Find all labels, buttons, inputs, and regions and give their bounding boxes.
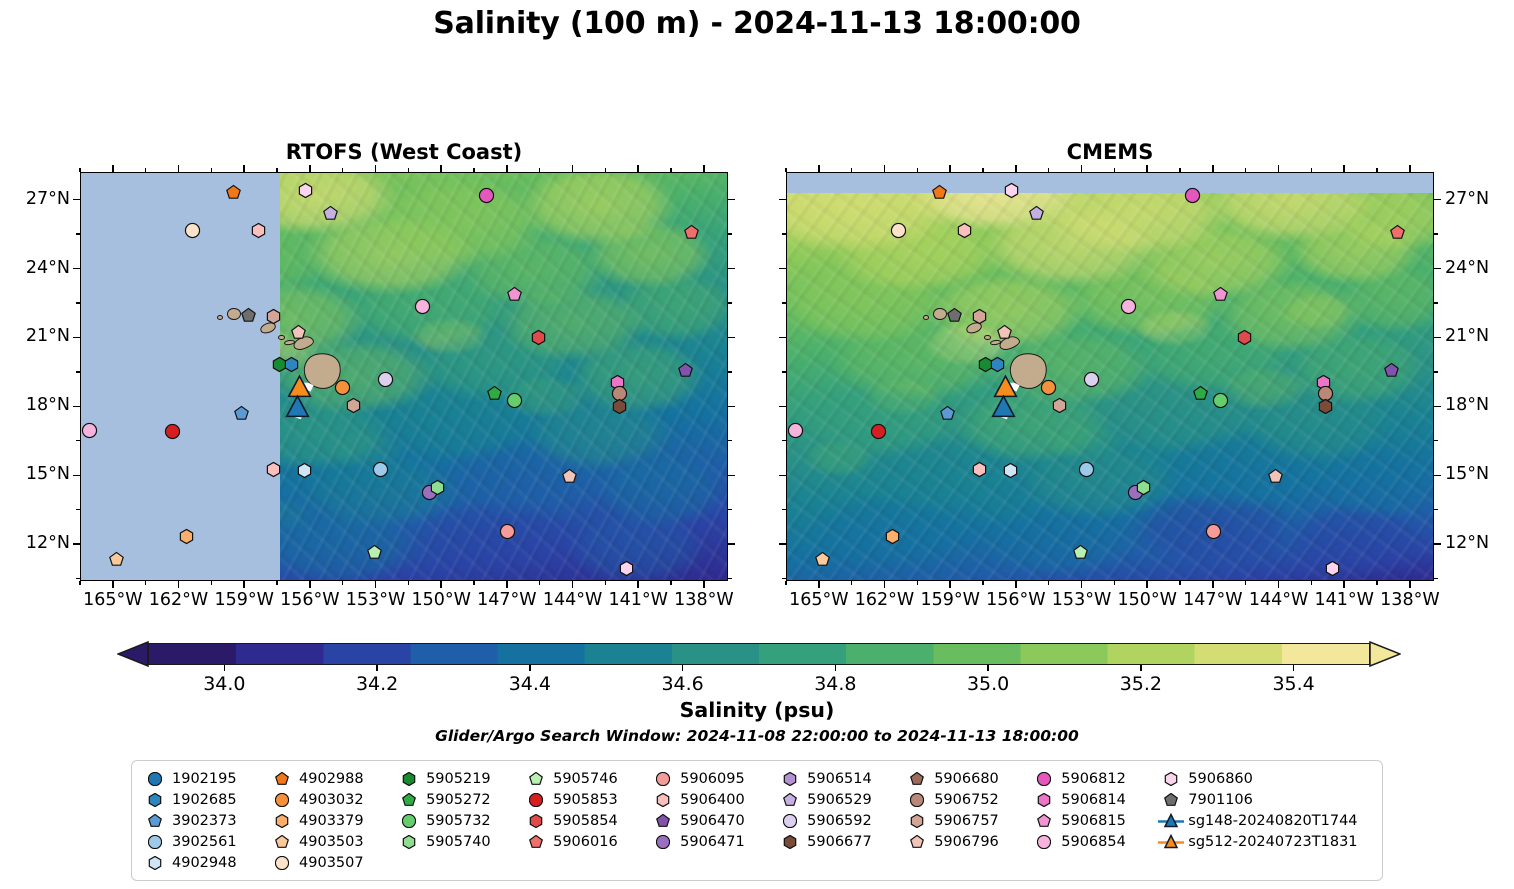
legend-label: 4902988 [299,771,364,787]
argo-float-marker[interactable] [684,225,699,240]
colorbar-extend-min [118,642,148,666]
x-axis-tick-top [884,165,886,172]
x-axis-minor-tick [276,581,277,585]
float-marker-icon [777,789,803,810]
y-axis-tick [779,268,786,270]
argo-float-marker[interactable] [487,386,502,401]
legend-item[interactable]: 4903503 [269,831,378,852]
argo-float-marker[interactable] [997,325,1012,340]
x-axis-tick [949,581,951,588]
legend-item[interactable]: 5905746 [523,768,632,789]
argo-float-marker[interactable] [367,545,382,560]
argo-float-marker[interactable] [109,552,124,567]
map-panel-rtofs[interactable] [80,172,728,581]
argo-float-marker[interactable] [251,223,266,238]
legend-item[interactable]: 5906757 [904,810,1013,831]
x-axis-minor-tick-top [1245,168,1246,172]
y-axis-minor-tick-right [728,371,732,372]
y-axis-tick-label: 27°N [1445,189,1514,209]
legend-box: 1902195490298859052195905746590609559065… [131,760,1383,881]
argo-float-marker[interactable] [1185,188,1200,203]
legend-item[interactable]: 4902948 [142,852,251,873]
argo-float-marker[interactable] [226,185,241,200]
float-marker-icon [142,768,168,789]
float-marker-icon [523,831,549,852]
y-axis-tick-right [728,475,735,477]
x-axis-minor-tick-top [1048,168,1049,172]
panel-title-rtofs: RTOFS (West Coast) [80,140,728,164]
legend-label: 5905854 [553,813,618,829]
argo-float-marker[interactable] [1390,225,1405,240]
argo-float-marker[interactable] [234,406,249,421]
y-axis-tick [73,406,80,408]
float-marker-icon [142,789,168,810]
argo-float-marker[interactable] [165,424,180,439]
legend-empty-cell [396,852,505,873]
y-axis-minor-tick-right [1434,440,1438,441]
x-axis-minor-tick [1048,581,1049,585]
argo-float-marker[interactable] [1004,183,1019,198]
y-axis-tick-label: 15°N [1445,464,1514,484]
argo-float-marker[interactable] [507,287,522,302]
argo-float-marker[interactable] [266,462,281,477]
float-marker-icon [650,810,676,831]
argo-float-marker[interactable] [298,183,313,198]
argo-float-marker[interactable] [1041,380,1056,395]
argo-float-marker[interactable] [284,357,299,372]
argo-float-marker[interactable] [940,406,955,421]
float-marker-icon [1158,789,1184,810]
legend-label: 4903507 [299,855,364,871]
colorbar-tick-label: 35.4 [1249,673,1339,695]
x-axis-tick-top [243,165,245,172]
x-axis-minor-tick-top [79,168,80,172]
search-window-text: Glider/Argo Search Window: 2024-11-08 22… [0,727,1514,745]
float-marker-icon [650,789,676,810]
y-axis-minor-tick-right [1434,509,1438,510]
x-axis-minor-tick-top [342,168,343,172]
float-marker-icon [904,768,930,789]
float-marker-icon [269,768,295,789]
x-axis-minor-tick-top [1114,168,1115,172]
x-axis-tick [375,581,377,588]
legend-item[interactable]: 4903379 [269,810,378,831]
colorbar-tick-label: 35.0 [943,673,1033,695]
y-axis-tick [73,337,80,339]
x-axis-tick-top [637,165,639,172]
x-axis-tick-top [949,165,951,172]
y-axis-tick-right [1434,406,1441,408]
legend-label: 4903032 [299,792,364,808]
argo-float-marker[interactable] [297,463,312,478]
float-marker-icon [396,810,422,831]
argo-float-marker[interactable] [415,299,430,314]
x-axis-tick-top [1146,165,1148,172]
legend-item[interactable]: 5906752 [904,789,1013,810]
legend-label: 5906470 [680,813,745,829]
y-axis-minor-tick-right [728,440,732,441]
x-axis-tick-top [1343,165,1345,172]
y-axis-tick [73,475,80,477]
argo-float-marker[interactable] [932,185,947,200]
argo-float-marker[interactable] [957,223,972,238]
legend-label: 5906514 [807,771,872,787]
legend-label: 5906471 [680,834,745,850]
x-axis-minor-tick-top [982,168,983,172]
x-axis-minor-tick-top [1311,168,1312,172]
argo-float-marker[interactable] [1193,386,1208,401]
y-axis-tick-right [728,199,735,201]
legend-item[interactable]: 5905740 [396,831,505,852]
legend-item[interactable]: 5906860 [1158,768,1372,789]
y-axis-minor-tick-right [1434,578,1438,579]
x-axis-tick [1146,581,1148,588]
x-axis-minor-tick [408,581,409,585]
argo-float-marker[interactable] [1318,399,1333,414]
legend-empty-cell [904,852,1013,873]
legend-label: 5906854 [1061,834,1126,850]
argo-float-marker[interactable] [1029,206,1044,221]
argo-float-marker[interactable] [947,308,962,323]
colorbar-tick [1293,665,1294,671]
legend-item[interactable]: 5905732 [396,810,505,831]
legend-label: 5905740 [426,834,491,850]
argo-float-marker[interactable] [1084,372,1099,387]
x-axis-tick-top [1015,165,1017,172]
float-marker-icon [650,831,676,852]
x-axis-minor-tick [211,581,212,585]
float-marker-icon [396,831,422,852]
legend-label: 5906814 [1061,792,1126,808]
float-marker-icon [142,810,168,831]
colorbar-tick-label: 34.0 [179,673,269,695]
argo-float-marker[interactable] [1136,480,1151,495]
y-axis-tick-label: 24°N [1445,258,1514,278]
float-marker-icon [523,810,549,831]
legend-item[interactable]: 7901106 [1158,789,1372,810]
x-axis-minor-tick [79,581,80,585]
argo-float-marker[interactable] [1213,287,1228,302]
y-axis-minor-tick-right [728,233,732,234]
legend-item[interactable]: 5906812 [1031,768,1140,789]
legend-item[interactable]: 4902988 [269,768,378,789]
x-axis-tick [178,581,180,588]
legend-label: 5905853 [553,792,618,808]
legend-label: 5905272 [426,792,491,808]
y-axis-tick-right [1434,337,1441,339]
panel-title-cmems: CMEMS [786,140,1434,164]
legend-label: 5906680 [934,771,999,787]
x-axis-minor-tick-top [473,168,474,172]
argo-float-marker[interactable] [815,552,830,567]
y-axis-tick-right [1434,543,1441,545]
argo-float-marker[interactable] [185,223,200,238]
argo-float-marker[interactable] [378,372,393,387]
colorbar-tick [987,665,988,671]
x-axis-minor-tick [605,581,606,585]
argo-float-marker[interactable] [990,357,1005,372]
legend-item[interactable]: 4903032 [269,789,378,810]
legend-item[interactable]: 5906514 [777,768,886,789]
argo-float-marker[interactable] [1268,469,1283,484]
legend-label: 5906677 [807,834,872,850]
argo-float-marker[interactable] [1237,330,1252,345]
argo-float-marker[interactable] [871,424,886,439]
argo-float-marker[interactable] [346,398,361,413]
legend-item[interactable]: 5906854 [1031,831,1140,852]
legend-item[interactable]: 1902195 [142,768,251,789]
argo-float-marker[interactable] [972,309,987,324]
argo-float-marker[interactable] [82,423,97,438]
legend-label: 4902948 [172,855,237,871]
legend-item[interactable]: 5906814 [1031,789,1140,810]
x-axis-tick [243,581,245,588]
legend-empty-cell [650,852,759,873]
x-axis-tick-top [1212,165,1214,172]
legend-label: 5906095 [680,771,745,787]
x-axis-minor-tick-top [851,168,852,172]
argo-float-marker[interactable] [179,529,194,544]
argo-float-marker[interactable] [266,309,281,324]
colorbar-gradient [148,643,1370,665]
glider-marker[interactable] [286,396,309,419]
y-axis-minor-tick [76,233,80,234]
y-axis-minor-tick [76,578,80,579]
x-axis-tick-top [178,165,180,172]
y-axis-tick [779,475,786,477]
legend-item[interactable]: 1902685 [142,789,251,810]
legend-label: 1902685 [172,792,237,808]
x-axis-tick-top [818,165,820,172]
float-marker-icon [777,810,803,831]
x-axis-minor-tick [342,581,343,585]
argo-float-marker[interactable] [507,393,522,408]
glider-legend-icon [1158,831,1184,852]
legend-label: 5905746 [553,771,618,787]
legend-label: 5906592 [807,813,872,829]
legend-label: 5906752 [934,792,999,808]
argo-float-marker[interactable] [612,399,627,414]
float-marker-icon [396,768,422,789]
legend-label: 5906812 [1061,771,1126,787]
argo-float-marker[interactable] [1206,524,1221,539]
colorbar-tick-label: 34.4 [485,673,575,695]
x-axis-tick-top [440,165,442,172]
argo-float-marker[interactable] [1384,363,1399,378]
argo-float-marker[interactable] [562,469,577,484]
float-marker-icon [777,768,803,789]
legend-item[interactable]: 5906680 [904,768,1013,789]
argo-float-marker[interactable] [1213,393,1228,408]
y-axis-tick [779,406,786,408]
x-axis-tick-top [703,165,705,172]
argo-float-marker[interactable] [1003,463,1018,478]
colorbar-tick [682,665,683,671]
y-axis-tick-right [728,543,735,545]
legend-label: 5906529 [807,792,872,808]
colorbar-tick [224,665,225,671]
argo-float-marker[interactable] [1052,398,1067,413]
x-axis-minor-tick-top [605,168,606,172]
y-axis-tick-label: 21°N [1445,326,1514,346]
x-axis-minor-tick [473,581,474,585]
x-axis-tick [703,581,705,588]
argo-float-marker[interactable] [1073,545,1088,560]
legend-label: 7901106 [1188,792,1253,808]
x-axis-tick [1015,581,1017,588]
float-marker-icon [904,810,930,831]
argo-float-marker[interactable] [619,561,634,576]
legend-item[interactable]: sg148-20240820T1744 [1158,810,1372,831]
x-axis-tick-top [1081,165,1083,172]
argo-float-marker[interactable] [788,423,803,438]
y-axis-tick-label: 12°N [1445,533,1514,553]
y-axis-tick [779,543,786,545]
x-axis-tick-top [1409,165,1411,172]
argo-float-marker[interactable] [1325,561,1340,576]
legend-item[interactable]: 5906796 [904,831,1013,852]
y-axis-minor-tick [782,440,786,441]
legend-item[interactable]: 5906815 [1031,810,1140,831]
legend-item[interactable]: 3902561 [142,831,251,852]
y-axis-tick-label: 12°N [0,533,70,553]
argo-float-marker[interactable] [891,223,906,238]
x-axis-tick [506,581,508,588]
colorbar-tick [835,665,836,671]
float-marker-icon [650,768,676,789]
colorbar-tick-label: 34.6 [638,673,728,695]
legend-label: 4903503 [299,834,364,850]
float-marker-icon [523,789,549,810]
argo-float-marker[interactable] [972,462,987,477]
glider-marker[interactable] [992,396,1015,419]
y-axis-minor-tick [76,440,80,441]
legend-item[interactable]: 5906095 [650,768,759,789]
argo-float-marker[interactable] [1121,299,1136,314]
x-axis-tick-top [375,165,377,172]
x-axis-tick [1409,581,1411,588]
argo-float-marker[interactable] [291,325,306,340]
argo-float-marker[interactable] [323,206,338,221]
salinity-field-cmems [787,173,1433,580]
float-marker-icon [396,789,422,810]
x-axis-tick [884,581,886,588]
x-axis-tick [818,581,820,588]
legend-item[interactable]: 5905853 [523,789,632,810]
x-axis-tick [440,581,442,588]
legend-item[interactable]: 5905272 [396,789,505,810]
x-axis-tick [309,581,311,588]
colorbar-title: Salinity (psu) [0,698,1514,722]
x-axis-minor-tick-top [539,168,540,172]
x-axis-tick-top [309,165,311,172]
legend-empty-cell [1031,852,1140,873]
x-axis-minor-tick [851,581,852,585]
argo-float-marker[interactable] [335,380,350,395]
y-axis-minor-tick [782,233,786,234]
argo-float-marker[interactable] [373,462,388,477]
float-marker-icon [523,768,549,789]
legend-item[interactable]: 5905219 [396,768,505,789]
map-panel-cmems[interactable] [786,172,1434,581]
argo-float-marker[interactable] [1079,462,1094,477]
colorbar-tick [376,665,377,671]
y-axis-minor-tick [782,371,786,372]
x-axis-minor-tick [1245,581,1246,585]
y-axis-tick-right [1434,268,1441,270]
y-axis-tick-label: 27°N [0,189,70,209]
legend-item[interactable]: 4903507 [269,852,378,873]
legend-item[interactable]: 5906677 [777,831,886,852]
float-marker-icon [904,789,930,810]
y-axis-tick-label: 18°N [1445,395,1514,415]
legend-item[interactable]: 5906470 [650,810,759,831]
legend-item[interactable]: 5906016 [523,831,632,852]
colorbar-extend-max [1370,642,1400,666]
argo-float-marker[interactable] [500,524,515,539]
x-axis-tick [1343,581,1345,588]
y-axis-minor-tick-right [728,509,732,510]
x-axis-tick [572,581,574,588]
y-axis-tick-label: 21°N [0,326,70,346]
argo-float-marker[interactable] [241,308,256,323]
legend-item[interactable]: 5906471 [650,831,759,852]
y-axis-tick [73,268,80,270]
float-marker-icon [1031,810,1057,831]
argo-float-marker[interactable] [430,480,445,495]
x-axis-tick-label: 138°W [1368,590,1452,610]
island-landmass [984,335,991,340]
island-landmass [933,308,947,320]
argo-float-marker[interactable] [885,529,900,544]
argo-float-marker[interactable] [531,330,546,345]
x-axis-tick [112,581,114,588]
x-axis-minor-tick [670,581,671,585]
legend-item[interactable]: 5905854 [523,810,632,831]
float-marker-icon [142,831,168,852]
y-axis-minor-tick-right [728,302,732,303]
float-marker-icon [269,810,295,831]
x-axis-minor-tick-top [408,168,409,172]
x-axis-minor-tick [1311,581,1312,585]
colorbar-tick [529,665,530,671]
y-axis-tick-label: 15°N [0,464,70,484]
legend-item[interactable]: 5906592 [777,810,886,831]
y-axis-minor-tick-right [1434,233,1438,234]
colorbar-tick-label: 34.8 [790,673,880,695]
legend-item[interactable]: 5906400 [650,789,759,810]
argo-float-marker[interactable] [479,188,494,203]
legend-item[interactable]: 5906529 [777,789,886,810]
argo-float-marker[interactable] [678,363,693,378]
legend-item[interactable]: sg512-20240723T1831 [1158,831,1372,852]
y-axis-tick [73,199,80,201]
legend-item[interactable]: 3902373 [142,810,251,831]
y-axis-tick [73,543,80,545]
legend-label: 1902195 [172,771,237,787]
y-axis-minor-tick [782,509,786,510]
colorbar-tick-label: 34.2 [332,673,422,695]
legend-label: 5906796 [934,834,999,850]
y-axis-minor-tick-right [1434,371,1438,372]
x-axis-minor-tick-top [145,168,146,172]
x-axis-tick-top [112,165,114,172]
figure-title: Salinity (100 m) - 2024-11-13 18:00:00 [0,6,1514,41]
colorbar-tick-label: 35.2 [1096,673,1186,695]
colorbar-tick [1140,665,1141,671]
float-marker-icon [1031,831,1057,852]
x-axis-minor-tick [1114,581,1115,585]
